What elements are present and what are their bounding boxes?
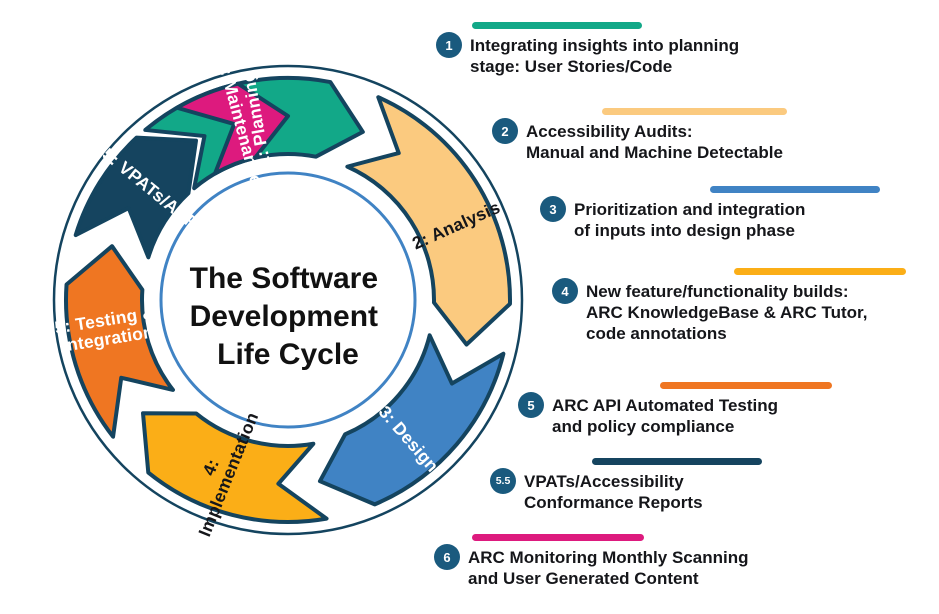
legend-badge-6: 6 (434, 544, 460, 570)
legend-item-1[interactable]: 1Integrating insights into planning stag… (436, 22, 739, 77)
center-title-line-1: The Software (190, 262, 378, 295)
legend-color-bar (472, 22, 642, 29)
legend-badge-3: 3 (540, 196, 566, 222)
legend-badge-5-5: 5.5 (490, 468, 516, 494)
center-title-line-3: Life Cycle (217, 338, 359, 371)
legend-badge-5: 5 (518, 392, 544, 418)
legend-body: Prioritization and integration of inputs… (574, 186, 880, 241)
legend-badge-1: 1 (436, 32, 462, 58)
legend-text: ARC API Automated Testing and policy com… (552, 395, 832, 437)
legend-color-bar (734, 268, 906, 275)
center-title: The Software Development Life Cycle (190, 262, 387, 371)
legend-text: Integrating insights into planning stage… (470, 35, 739, 77)
legend-item-5-5[interactable]: 5.5VPATs/Accessibility Conformance Repor… (490, 458, 762, 513)
legend-item-6[interactable]: 6ARC Monitoring Monthly Scanning and Use… (434, 534, 748, 589)
center-title-line-2: Development (190, 300, 378, 333)
sdlc-infographic: The Software Development Life Cycle 1: P… (0, 0, 939, 614)
legend-body: VPATs/Accessibility Conformance Reports (524, 458, 762, 513)
legend-list: 1Integrating insights into planning stag… (430, 0, 939, 614)
legend-text: ARC Monitoring Monthly Scanning and User… (468, 547, 748, 589)
legend-item-2[interactable]: 2Accessibility Audits: Manual and Machin… (492, 108, 787, 163)
legend-body: ARC API Automated Testing and policy com… (552, 382, 832, 437)
legend-badge-4: 4 (552, 278, 578, 304)
legend-body: New feature/functionality builds: ARC Kn… (586, 268, 906, 344)
legend-color-bar (710, 186, 880, 193)
legend-color-bar (472, 534, 644, 541)
legend-text: Accessibility Audits: Manual and Machine… (526, 121, 787, 163)
legend-body: Accessibility Audits: Manual and Machine… (526, 108, 787, 163)
legend-body: ARC Monitoring Monthly Scanning and User… (468, 534, 748, 589)
legend-text: New feature/functionality builds: ARC Kn… (586, 281, 906, 344)
legend-item-3[interactable]: 3Prioritization and integration of input… (540, 186, 880, 241)
legend-body: Integrating insights into planning stage… (470, 22, 739, 77)
legend-color-bar (602, 108, 787, 115)
legend-text: VPATs/Accessibility Conformance Reports (524, 471, 762, 513)
legend-badge-2: 2 (492, 118, 518, 144)
legend-text: Prioritization and integration of inputs… (574, 199, 880, 241)
legend-item-5[interactable]: 5ARC API Automated Testing and policy co… (518, 382, 832, 437)
legend-color-bar (660, 382, 832, 389)
legend-item-4[interactable]: 4New feature/functionality builds: ARC K… (552, 268, 906, 344)
legend-color-bar (592, 458, 762, 465)
